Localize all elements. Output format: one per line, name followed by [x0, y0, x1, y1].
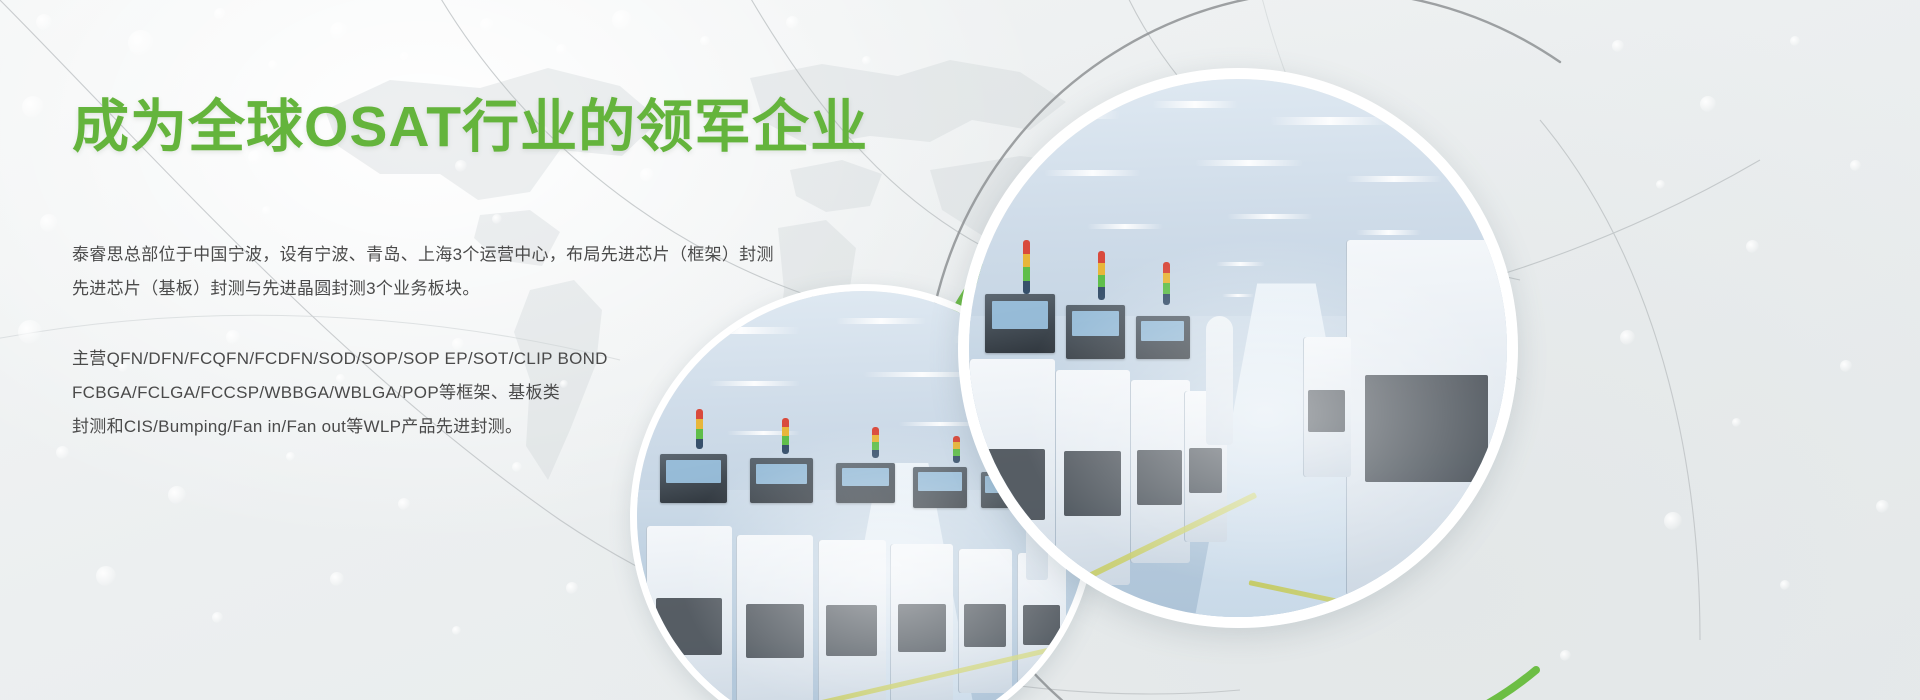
green-arc-lower [1358, 670, 1536, 700]
intro-line-2: 先进芯片（基板）封测与先进晶圆封测3个业务板块。 [72, 279, 480, 298]
company-intro-banner: 成为全球OSAT行业的领军企业 泰睿思总部位于中国宁波，设有宁波、青岛、上海3个… [0, 0, 1920, 700]
intro-line-1: 泰睿思总部位于中国宁波，设有宁波、青岛、上海3个运营中心，布局先进芯片（框架）封… [72, 245, 774, 264]
products-line-2: FCBGA/FCLGA/FCCSP/WBBGA/WBLGA/POP等框架、基板类 [72, 383, 560, 402]
products-paragraph: 主营QFN/DFN/FCQFN/FCDFN/SOD/SOP/SOP EP/SOT… [72, 342, 912, 444]
cleanroom-corridor-photo [969, 79, 1507, 617]
intro-paragraph: 泰睿思总部位于中国宁波，设有宁波、青岛、上海3个运营中心，布局先进芯片（框架）封… [72, 238, 912, 306]
products-line-3: 封测和CIS/Bumping/Fan in/Fan out等WLP产品先进封测。 [72, 417, 522, 436]
page-title: 成为全球OSAT行业的领军企业 [72, 96, 912, 160]
products-line-1: 主营QFN/DFN/FCQFN/FCDFN/SOD/SOP/SOP EP/SOT… [72, 349, 608, 368]
banner-copy: 成为全球OSAT行业的领军企业 泰睿思总部位于中国宁波，设有宁波、青岛、上海3个… [72, 96, 912, 444]
photo-circle-corridor [958, 68, 1518, 628]
